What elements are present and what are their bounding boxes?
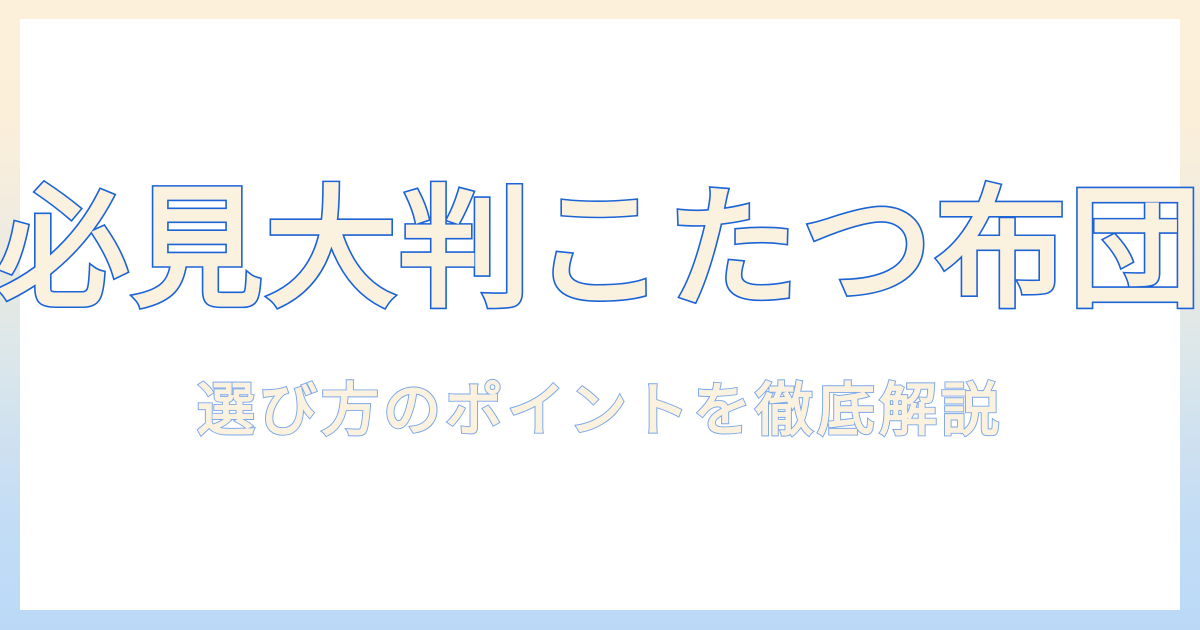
subheadline-text: 選び方のポイントを徹底解説	[197, 379, 1003, 443]
banner-frame: 必見大判こたつ布団 選び方のポイントを徹底解説	[0, 0, 1200, 630]
headline-title: 必見大判こたつ布団	[0, 181, 1200, 321]
text-stack: 必見大判こたつ布団 選び方のポイントを徹底解説	[20, 181, 1180, 443]
banner-card: 必見大判こたつ布団 選び方のポイントを徹底解説	[20, 19, 1180, 610]
